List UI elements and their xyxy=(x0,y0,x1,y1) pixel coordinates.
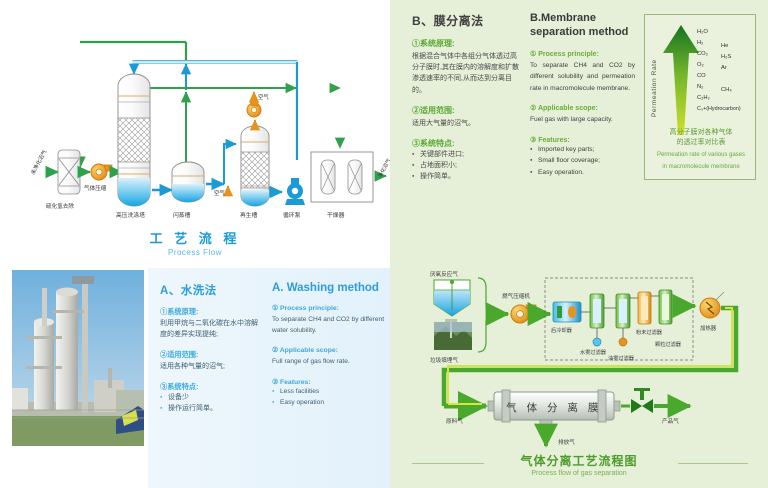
washing-scope-body-cn: 适用各种气量的沼气; xyxy=(160,362,260,373)
arrow-regen-gas-in xyxy=(224,144,236,184)
membrane-features-title-cn: ③系统特点: xyxy=(412,138,522,149)
pipe-blue-header xyxy=(132,60,298,160)
gas-row: N₂ CH₄ xyxy=(697,84,757,95)
label-air-in: 空气 xyxy=(214,189,225,197)
label-anaerobic-gas: 厌氧反应气 xyxy=(430,270,458,278)
label-h2s-removal: 硫化氢去除 xyxy=(46,202,74,210)
gas-label: CO xyxy=(697,73,706,79)
process-flow-title-cn: 工 艺 流 程 xyxy=(0,228,390,247)
label-regen-tank: 再生槽 xyxy=(240,211,258,219)
permeation-caption-en-2: in macromolecule membrane xyxy=(645,163,757,171)
gas-row: CO₂ H₂S xyxy=(697,51,757,62)
gas-row: C₃+(Hydrocarbon) xyxy=(697,106,757,117)
gas-separation-flow-diagram: 厌氧反应气 垃圾填埋气 燃气压缩机 xyxy=(390,258,768,458)
gas-label: C₃+(Hydrocarbon) xyxy=(697,106,741,112)
membrane-scope-title-cn: ②适用范围: xyxy=(412,105,522,116)
washing-principle-title-cn: ①系统原理: xyxy=(160,307,260,317)
membrane-heading-cn: B、膜分离法 xyxy=(412,12,522,29)
right-panel: B、膜分离法 ①系统原理: 根据混合气体中各组分气体透过高分子膜时,其在膜内的溶… xyxy=(390,0,768,488)
label-raw-gas: 未净化沼气 xyxy=(29,148,49,176)
membrane-feature-item: 操作简单。 xyxy=(412,171,522,182)
gas-row: H₂ He xyxy=(697,40,757,51)
washing-feature-item: 操作运行简单。 xyxy=(160,403,260,414)
label-heater: 加热器 xyxy=(700,324,717,332)
brace-gas-sources xyxy=(478,278,494,352)
label-gas-compressor: 气体压缩 xyxy=(84,184,107,192)
gas-label: Ar xyxy=(721,65,727,71)
gas-row: H₂O xyxy=(697,29,757,40)
permeation-caption-cn-2: 的透过率对比表 xyxy=(645,138,757,148)
gas-separation-title-cn: 气体分离工艺流程图 xyxy=(390,452,768,469)
process-flow-title-en: Process Flow xyxy=(0,248,390,257)
label-landfill-gas: 垃圾填埋气 xyxy=(430,356,458,364)
membrane-scope-body-cn: 适用大气量的沼气。 xyxy=(412,118,522,129)
equipment-gas-compressor xyxy=(511,305,536,323)
membrane-feature-item: 关键部件进口; xyxy=(412,149,522,160)
equipment-water-mist-filter xyxy=(590,294,604,346)
equipment-oil-mist-filter xyxy=(616,294,630,346)
equipment-particle-filter xyxy=(659,290,672,324)
membrane-principle-title-cn: ①系统原理: xyxy=(412,38,522,49)
washing-principle-title-en: ① Process principle: xyxy=(272,304,390,312)
label-product-gas: 产品气 xyxy=(662,417,679,425)
permeation-rate-panel: Permeation Rate H₂O H₂ xyxy=(644,14,756,180)
membrane-principle-body-en: To separate CH4 and CO2 by different sol… xyxy=(530,60,635,95)
equipment-circulation-pump xyxy=(285,178,305,205)
plant-photo xyxy=(12,270,144,446)
membrane-features-title-en: ③ Features: xyxy=(530,136,635,144)
poster-page: 未净化沼气 硫化氢去除 气体压缩 xyxy=(0,0,768,488)
equipment-gas-compressor xyxy=(91,164,112,180)
label-dryer: 干燥器 xyxy=(327,211,345,219)
membrane-principle-title-en: ① Process principle: xyxy=(530,50,635,58)
equipment-regen-tank xyxy=(241,126,269,206)
membrane-method-en: B.Membrane separation method ① Process p… xyxy=(530,12,635,179)
label-oil-mist-filter: 油雾过滤器 xyxy=(608,354,635,362)
equipment-heater xyxy=(700,292,724,318)
label-after-cooler: 后冷却器 xyxy=(551,326,573,334)
gas-separation-title-en: Process flow of gas separation xyxy=(390,470,768,477)
label-water-mist-filter: 水雾过滤器 xyxy=(580,348,607,356)
washing-method-en: A. Washing method ① Process principle: T… xyxy=(272,282,390,409)
label-circulation-pump: 循环泵 xyxy=(283,211,301,219)
washing-scope-body-en: Full range of gas flow rate. xyxy=(272,356,390,367)
gas-row: CO xyxy=(697,73,757,84)
gas-label: H₂O xyxy=(697,29,708,35)
washing-heading-cn: A、水洗法 xyxy=(160,282,260,298)
washing-features-title-en: ③ Features: xyxy=(272,378,390,386)
label-product-gas: 净化沼气 xyxy=(376,157,390,179)
permeation-caption-en-1: Permeation rate of various gases xyxy=(645,151,757,159)
washing-features-title-cn: ③系统特点: xyxy=(160,382,260,392)
washing-scope-title-en: ② Applicable scope: xyxy=(272,346,390,354)
gas-permeation-list: H₂O H₂ He CO₂ H₂S O₂ Ar CO xyxy=(697,29,757,117)
washing-principle-body-cn: 利用甲烷与二氧化碳在水中溶解度的差异实现提纯; xyxy=(160,319,260,341)
membrane-feature-item: 占地面积小; xyxy=(412,160,522,171)
gas-label: CO₂ xyxy=(697,51,708,57)
permeation-caption: 高分子膜对各种气体 的透过率对比表 Permeation rate of var… xyxy=(645,128,757,171)
pipe-oil-to-powder xyxy=(630,294,638,298)
gas-row: C₂H₂ xyxy=(697,95,757,106)
left-panel: 未净化沼气 硫化氢去除 气体压缩 xyxy=(0,0,390,488)
gas-separation-title: 气体分离工艺流程图 Process flow of gas separation xyxy=(390,452,768,477)
membrane-feature-item-en: Imported key parts; xyxy=(530,144,635,156)
gas-label: He xyxy=(721,43,728,49)
membrane-feature-item-en: Easy operation. xyxy=(530,167,635,179)
washing-feature-item-en: Less facilities xyxy=(272,386,390,398)
equipment-h2s-removal xyxy=(58,150,80,194)
process-flow-title: 工 艺 流 程 Process Flow xyxy=(0,228,390,257)
pipe-yellowgreen-top xyxy=(134,88,340,170)
icon-valve xyxy=(631,388,653,413)
membrane-method-cn: B、膜分离法 ①系统原理: 根据混合气体中各组分气体透过高分子膜时,其在膜内的溶… xyxy=(412,12,522,183)
washing-principle-body-en: To separate CH4 and CO2 by different wat… xyxy=(272,314,390,336)
permeation-caption-cn-1: 高分子膜对各种气体 xyxy=(645,128,757,138)
icon-landfill-photo xyxy=(434,319,472,350)
label-hp-scrubber: 高压洗涤塔 xyxy=(116,211,145,219)
equipment-membrane-module: 气 体 分 离 膜 xyxy=(488,390,620,425)
pipe-powder-to-particle xyxy=(651,292,659,296)
label-flash-tank: 闪蒸槽 xyxy=(173,211,191,219)
label-powder-filter: 粉末过滤器 xyxy=(636,328,663,336)
label-gas-compressor: 燃气压缩机 xyxy=(502,292,530,300)
equipment-powder-filter xyxy=(638,292,651,324)
icon-anaerobic-digester xyxy=(434,280,470,316)
membrane-principle-body-cn: 根据混合气体中各组分气体透过高分子膜时,其在膜内的溶解度和扩散渗透速率的不同,从… xyxy=(412,51,522,96)
equipment-flash-tank xyxy=(172,162,204,202)
label-membrane-module: 气 体 分 离 膜 xyxy=(506,401,602,414)
gas-label: CH₄ xyxy=(721,87,732,93)
label-feed-gas: 原料气 xyxy=(446,417,463,425)
membrane-scope-body-en: Fuel gas with large capacity. xyxy=(530,114,635,126)
washing-feature-item: 设备少 xyxy=(160,392,260,403)
gas-label: H₂ xyxy=(697,40,703,46)
membrane-feature-item-en: Small floor coverage; xyxy=(530,155,635,167)
equipment-dryer xyxy=(311,152,373,202)
gas-row: O₂ Ar xyxy=(697,62,757,73)
membrane-scope-title-en: ② Applicable scope: xyxy=(530,104,635,112)
equipment-hp-scrubber xyxy=(118,74,150,206)
gas-label: N₂ xyxy=(697,84,703,90)
gas-label: O₂ xyxy=(697,62,704,68)
washing-method-cn: A、水洗法 ①系统原理: 利用甲烷与二氧化碳在水中溶解度的差异实现提纯; ②适用… xyxy=(160,282,260,414)
membrane-heading-en: B.Membrane separation method xyxy=(530,12,635,40)
label-air-out: 空气 xyxy=(258,93,269,101)
label-exhaust-gas: 排放气 xyxy=(558,438,575,446)
gas-label: C₂H₂ xyxy=(697,95,710,101)
equipment-after-cooler xyxy=(553,302,581,322)
gas-label: H₂S xyxy=(721,54,731,60)
equipment-regen-blower xyxy=(247,101,261,117)
washing-scope-title-cn: ②适用范围: xyxy=(160,350,260,360)
washing-heading-en: A. Washing method xyxy=(272,282,390,294)
washing-feature-item-en: Easy operation xyxy=(272,397,390,409)
label-particle-filter: 颗粒过滤器 xyxy=(655,340,682,348)
